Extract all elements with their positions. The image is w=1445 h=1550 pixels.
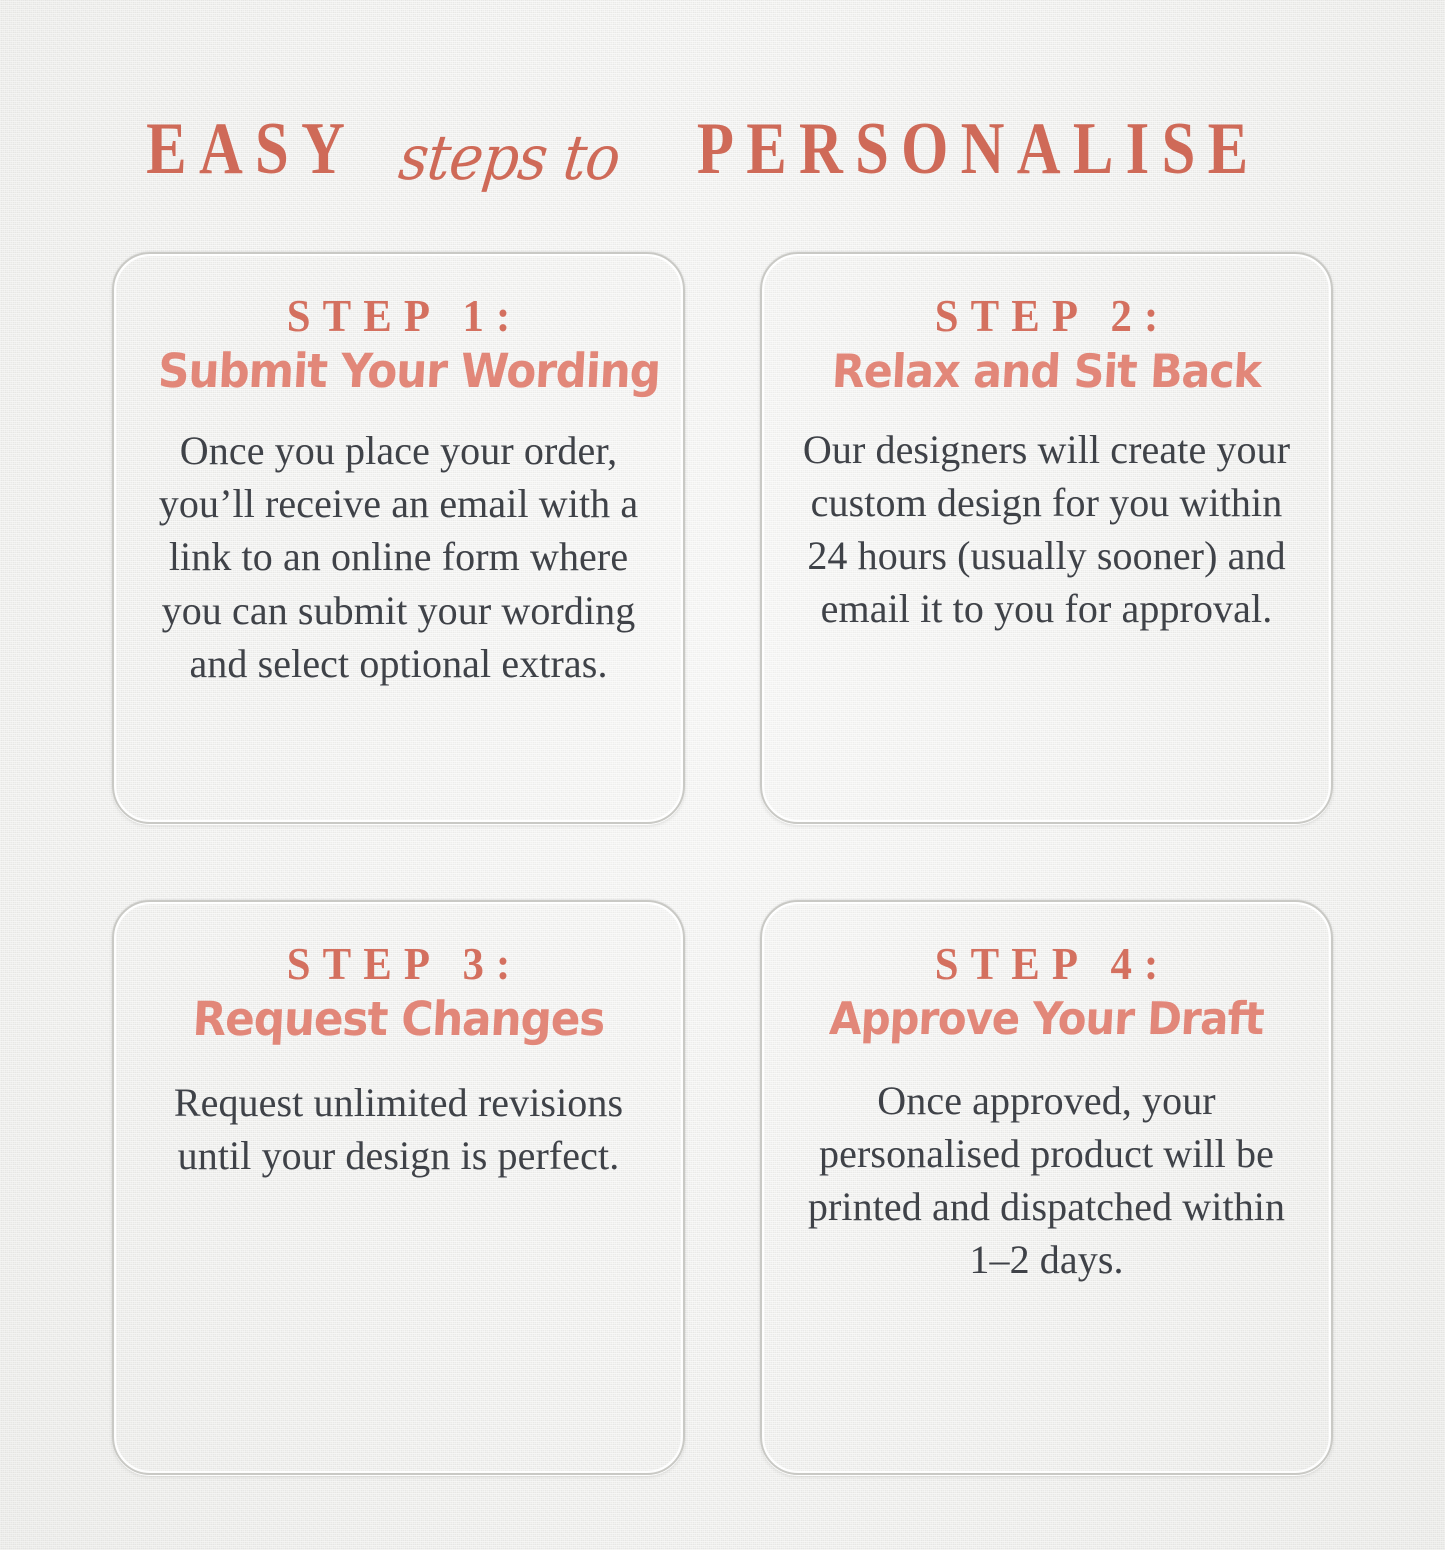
step-3-title: Request Changes	[157, 994, 640, 1046]
step-card-2-content: STEP 2: Relax and Sit Back Our designers…	[762, 254, 1331, 636]
step-1-label: STEP 1:	[158, 292, 639, 340]
step-4-body: Once approved, your personalised product…	[788, 1074, 1305, 1287]
step-3-body: Request unlimited revisions until your d…	[149, 1076, 649, 1182]
title-script-steps-to: steps to	[396, 127, 623, 189]
step-2-title: Relax and Sit Back	[805, 346, 1288, 397]
step-card-3: STEP 3: Request Changes Request unlimite…	[112, 900, 685, 1475]
step-card-4: STEP 4: Approve Your Draft Once approved…	[760, 900, 1333, 1475]
page-title: EASYsteps toPERSONALISE	[0, 112, 1445, 186]
title-word-easy: EASY	[146, 112, 357, 186]
step-card-1-content: STEP 1: Submit Your Wording Once you pla…	[114, 254, 683, 690]
step-1-title: Submit Your Wording	[157, 346, 640, 398]
step-card-3-content: STEP 3: Request Changes Request unlimite…	[114, 902, 683, 1182]
step-2-label: STEP 2:	[806, 292, 1287, 340]
step-card-1: STEP 1: Submit Your Wording Once you pla…	[112, 252, 685, 824]
infographic-page: EASYsteps toPERSONALISE STEP 1: Submit Y…	[0, 0, 1445, 1550]
title-word-personalise: PERSONALISE	[697, 112, 1261, 186]
step-3-label: STEP 3:	[158, 940, 639, 988]
step-4-label: STEP 4:	[806, 940, 1287, 988]
step-card-2: STEP 2: Relax and Sit Back Our designers…	[760, 252, 1333, 824]
step-4-title: Approve Your Draft	[805, 994, 1288, 1044]
step-1-body: Once you place your order, you’ll receiv…	[149, 424, 649, 690]
step-card-4-content: STEP 4: Approve Your Draft Once approved…	[762, 902, 1331, 1287]
step-2-body: Our designers will create your custom de…	[797, 423, 1297, 636]
